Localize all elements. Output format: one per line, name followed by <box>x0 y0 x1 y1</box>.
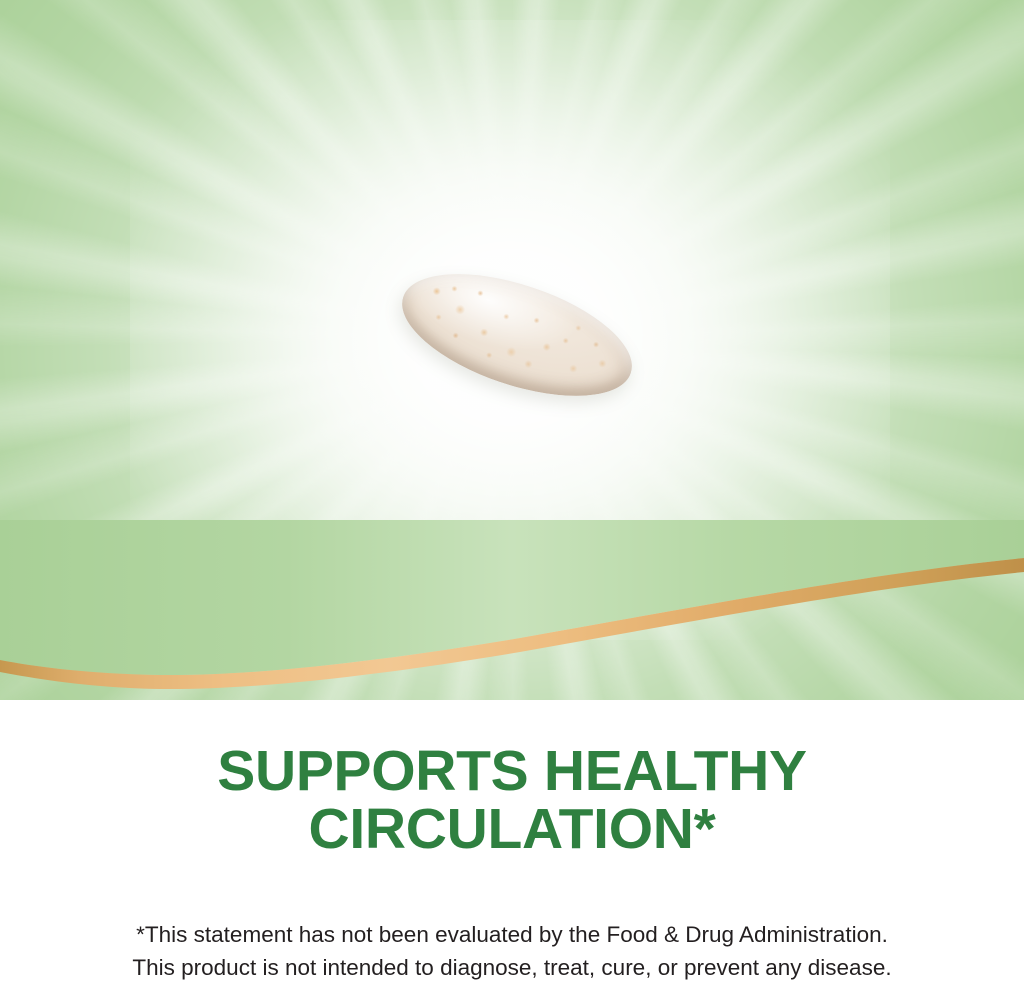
disclaimer-line-1: *This statement has not been evaluated b… <box>0 918 1024 951</box>
disclaimer-line-2: This product is not intended to diagnose… <box>0 951 1024 984</box>
page-title: SUPPORTS HEALTHY CIRCULATION* <box>0 742 1024 858</box>
headline-line-2: CIRCULATION* <box>0 800 1024 858</box>
headline-line-1: SUPPORTS HEALTHY <box>0 742 1024 800</box>
wave-svg <box>0 520 1024 700</box>
fda-disclaimer: *This statement has not been evaluated b… <box>0 918 1024 984</box>
lower-text-panel: SUPPORTS HEALTHY CIRCULATION* *This stat… <box>0 700 1024 992</box>
gold-wave-divider <box>0 520 1024 700</box>
product-image-panel: SUPPORTS HEALTHY CIRCULATION* *This stat… <box>0 0 1024 992</box>
